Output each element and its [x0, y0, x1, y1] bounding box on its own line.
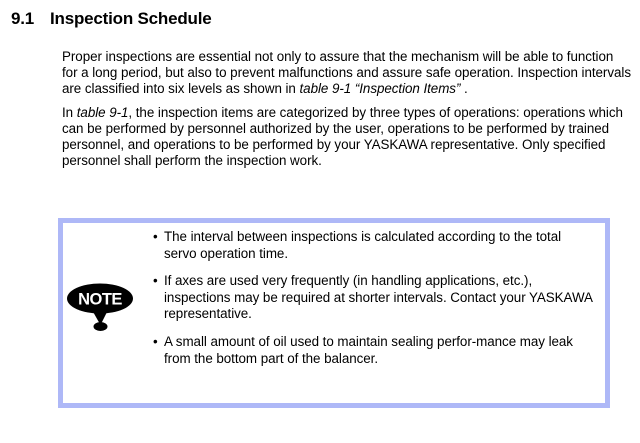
- note-list-item-text: A small amount of oil used to maintain s…: [164, 334, 573, 366]
- note-bullet-list: • The interval between inspections is ca…: [153, 229, 593, 367]
- note-list-item: • If axes are used very frequently (in h…: [153, 273, 593, 323]
- section-title: Inspection Schedule: [50, 9, 212, 29]
- bullet-glyph: •: [153, 273, 158, 290]
- table-reference-italic-1: table 9-1 “Inspection Items”: [300, 81, 461, 96]
- body-text: Proper inspections are essential not onl…: [62, 49, 632, 169]
- bullet-glyph: •: [153, 334, 158, 351]
- note-list-item: • The interval between inspections is ca…: [153, 229, 593, 262]
- note-list-item-text: If axes are used very frequently (in han…: [164, 273, 592, 321]
- bullet-glyph: •: [153, 229, 158, 246]
- section-number: 9.1: [0, 9, 50, 29]
- page-title: 9.1 Inspection Schedule: [0, 9, 640, 29]
- note-bubble-icon: NOTE: [66, 283, 138, 331]
- note-icon-label: NOTE: [78, 290, 122, 308]
- paragraph-intro: Proper inspections are essential not onl…: [62, 49, 632, 98]
- paragraph-categories: In table 9-1, the inspection items are c…: [62, 105, 632, 170]
- paragraph-intro-text-2: .: [460, 81, 467, 96]
- paragraph-categories-text-2: , the inspection items are categorized b…: [62, 105, 623, 169]
- paragraph-categories-text-1: In: [62, 105, 77, 120]
- note-list-item: • A small amount of oil used to maintain…: [153, 334, 593, 367]
- table-reference-italic-2: table 9-1: [77, 105, 129, 120]
- note-list-item-text: The interval between inspections is calc…: [164, 229, 561, 261]
